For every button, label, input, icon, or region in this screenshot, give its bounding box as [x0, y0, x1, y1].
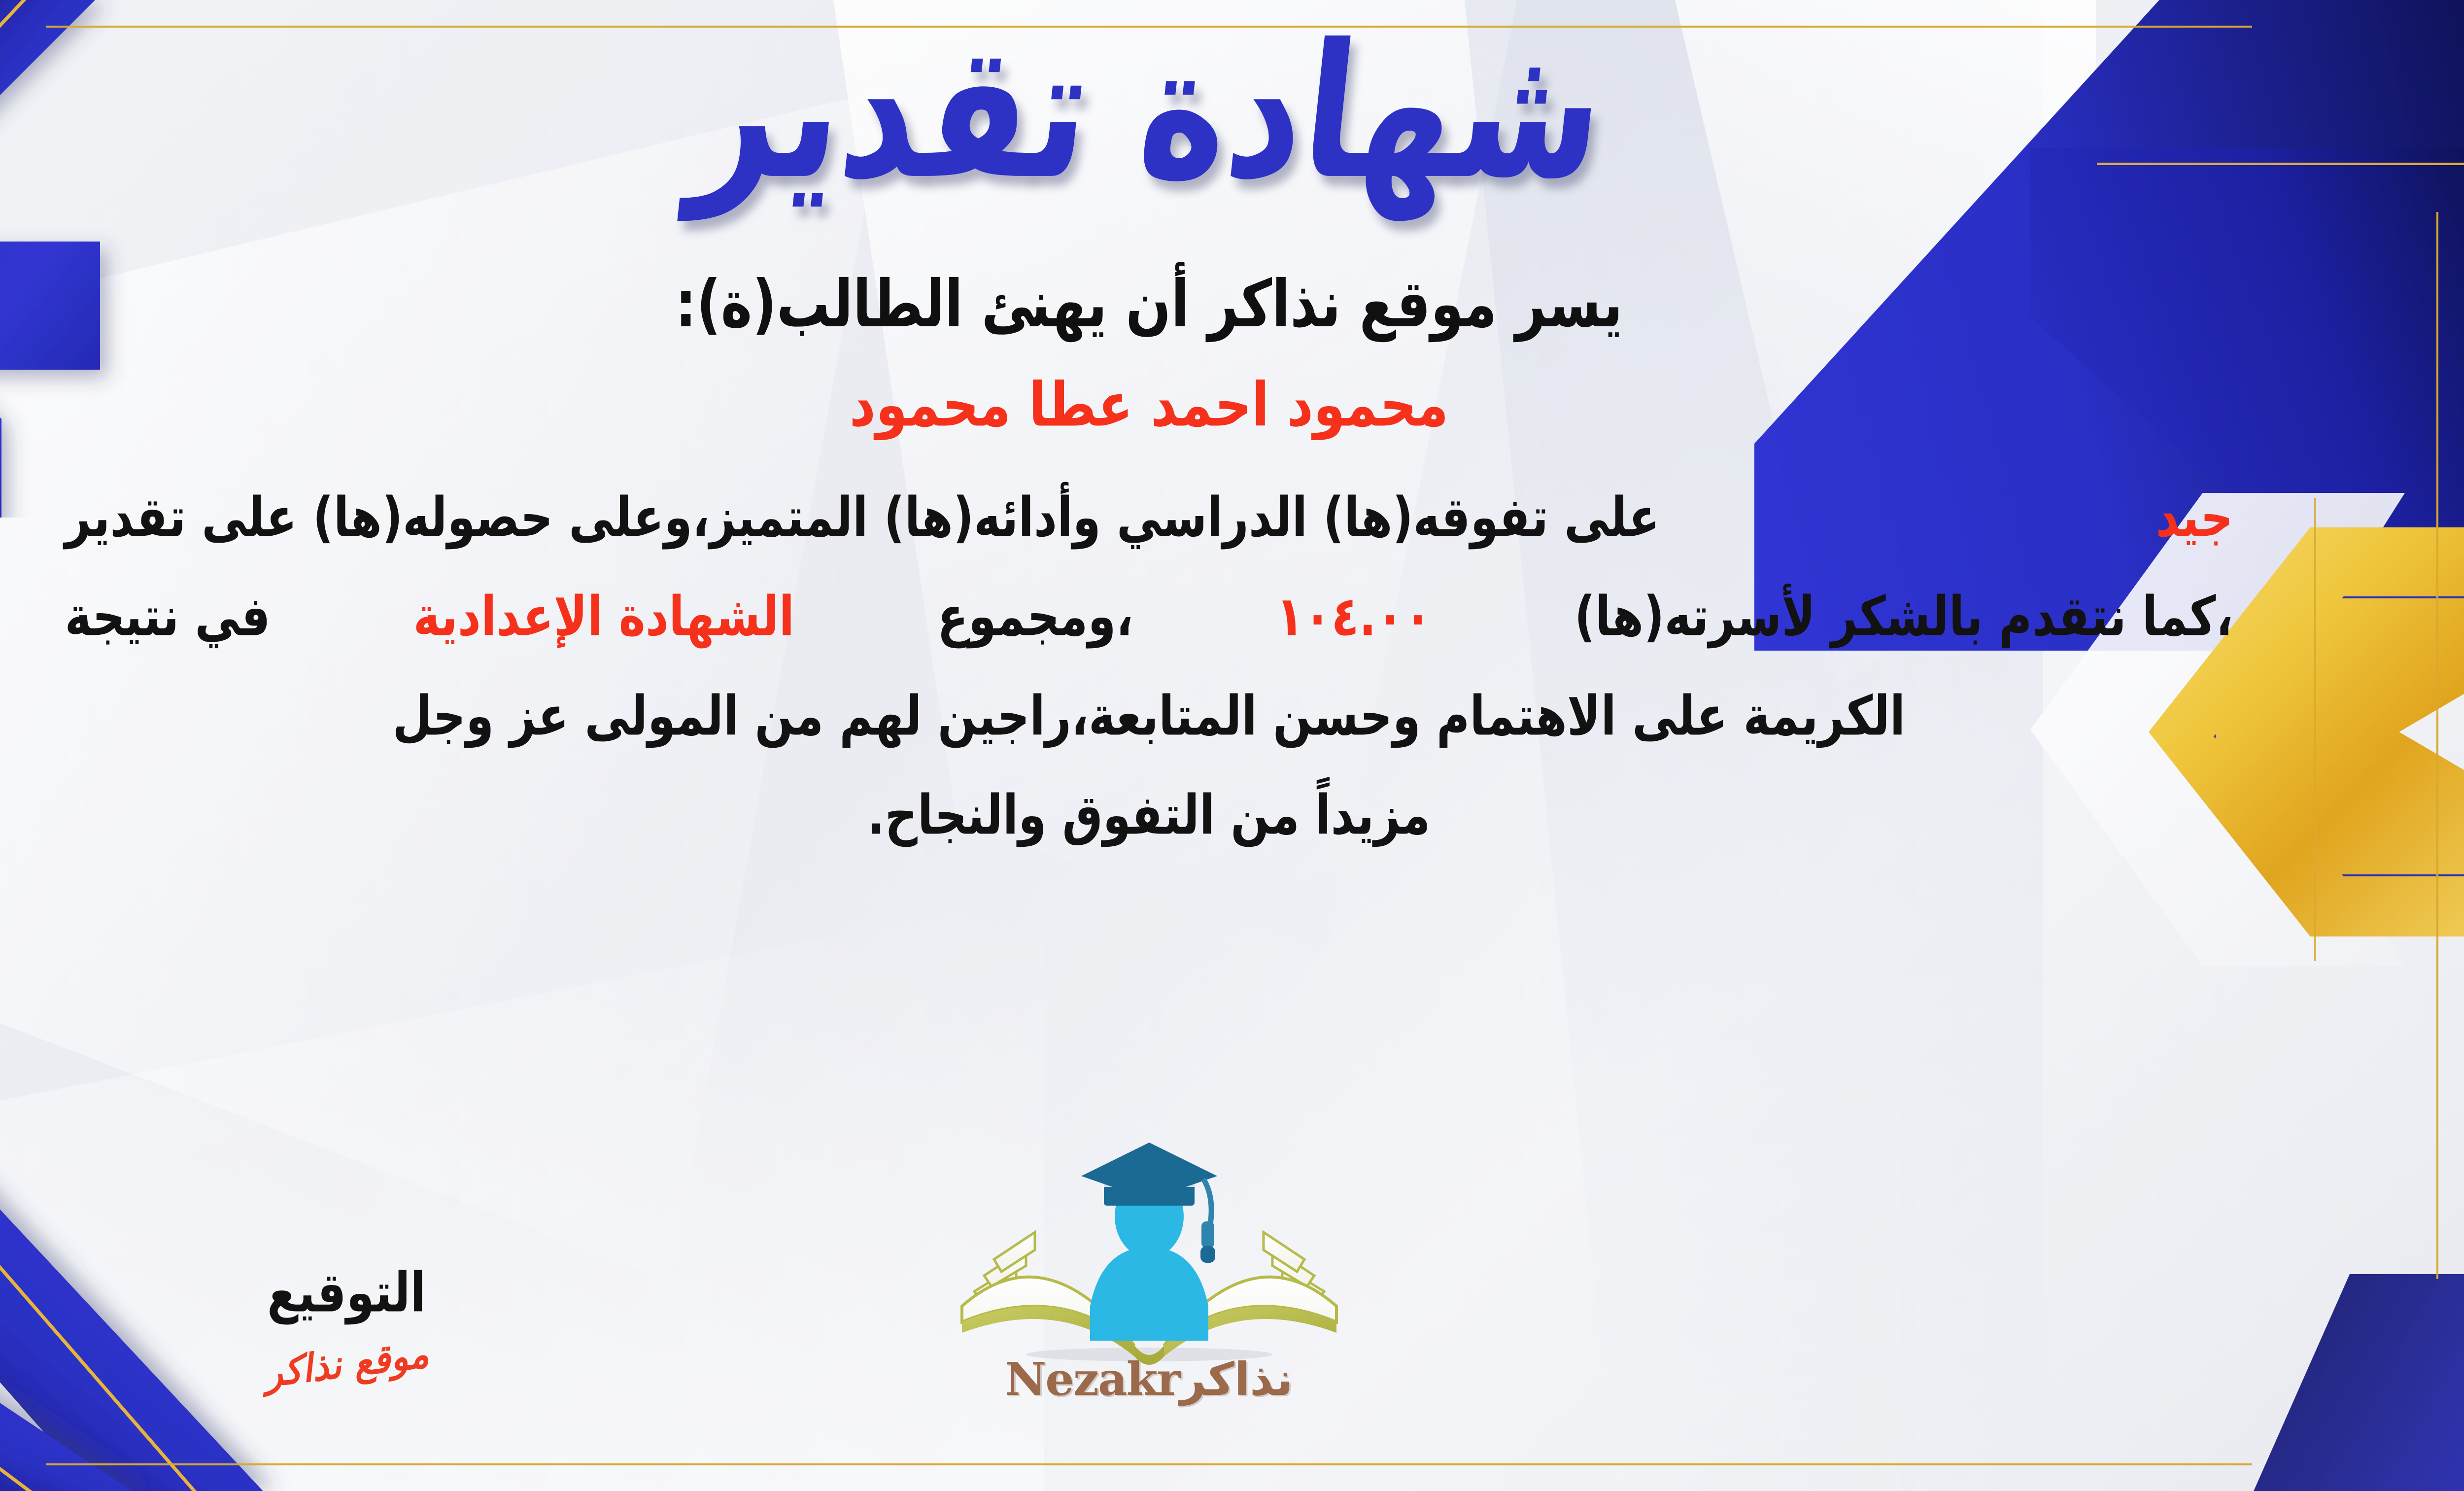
body-line-3-text: الكريمة على الاهتمام وحسن المتابعة،راجين…: [393, 663, 1906, 769]
body-line-4-text: مزيداً من التفوق والنجاح.: [868, 762, 1431, 868]
certificate-footer: التوقيع موقع نذاكر: [0, 1144, 2464, 1439]
exam-name-value: الشهادة الإعدادية: [413, 563, 794, 669]
body-line-4: مزيداً من التفوق والنجاح.: [65, 762, 2233, 868]
body-line-1: جيد على تفوقه(ها) الدراسي وأدائه(ها) الم…: [65, 464, 2233, 570]
grade-value: جيد: [2156, 464, 2233, 570]
signature-block: التوقيع موقع نذاكر: [159, 1266, 534, 1385]
body-line-1-text: على تفوقه(ها) الدراسي وأدائه(ها) المتميز…: [65, 464, 1660, 570]
signature-label: التوقيع: [159, 1261, 534, 1324]
certificate-title: شهادة تقدير: [685, 15, 1613, 209]
brand-logo: Nezakrنذاكر: [947, 1134, 1351, 1410]
body-line-2: ،كما نتقدم بالشكر لأسرته(ها) ١٠٤.٠٠ ،ومج…: [65, 563, 2233, 669]
student-name: محمود احمد عطا محمود: [850, 369, 1449, 440]
body-line-2-suffix: ،كما نتقدم بالشكر لأسرته(ها): [1574, 563, 2233, 669]
total-score-value: ١٠٤.٠٠: [1276, 563, 1432, 669]
logo-wordmark: Nezakrنذاكر: [947, 1352, 1351, 1406]
logo-wordmark-arabic: نذاكر: [1180, 1353, 1293, 1406]
greeting-line: يسر موقع نذاكر أن يهنئ الطالب(ة):: [675, 267, 1623, 342]
logo-wordmark-latin: Nezakr: [1005, 1352, 1180, 1406]
body-line-3: الكريمة على الاهتمام وحسن المتابعة،راجين…: [65, 663, 2233, 769]
certificate-body: جيد على تفوقه(ها) الدراسي وأدائه(ها) الم…: [65, 473, 2233, 870]
body-line-2-middle: ،ومجموع: [937, 563, 1133, 669]
certificate-canvas: شهادة تقدير يسر موقع نذاكر أن يهنئ الطال…: [0, 0, 2464, 1491]
body-line-2-prefix: في نتيجة: [65, 563, 271, 669]
signature-handwriting: موقع نذاكر: [158, 1319, 535, 1409]
